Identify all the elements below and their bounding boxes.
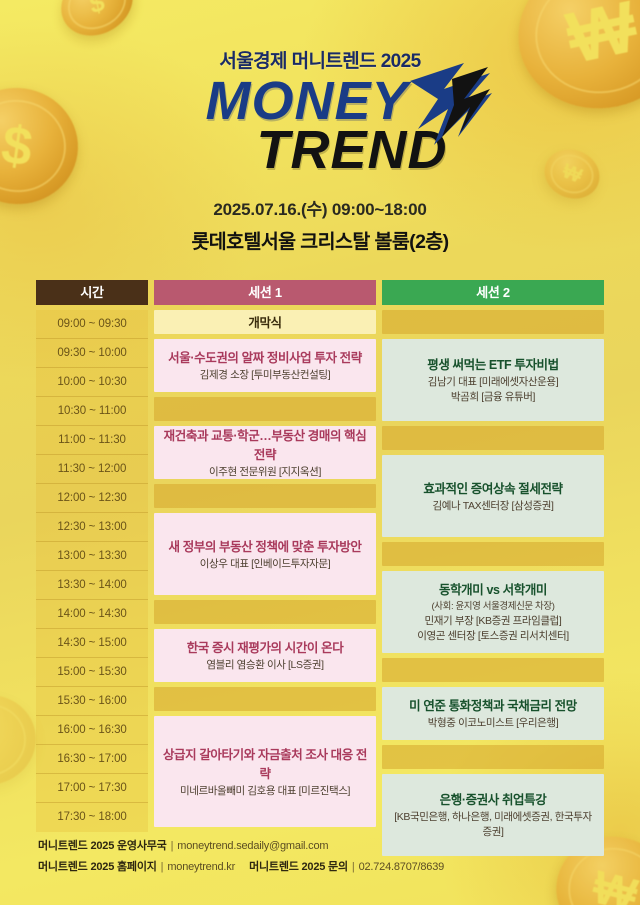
- session-speaker: 김예나 TAX센터장 [삼성증권]: [432, 499, 553, 514]
- column-header-time: 시간: [36, 280, 148, 305]
- coin-glyph: ₩: [588, 863, 640, 905]
- session-title: 은행·증권사 취업특강: [440, 789, 547, 808]
- schedule-gap: [154, 484, 376, 508]
- time-slot: 09:00 ~ 09:30: [36, 310, 148, 339]
- time-column: 09:00 ~ 09:3009:30 ~ 10:0010:00 ~ 10:301…: [36, 310, 148, 856]
- poster-root: $ $ ₩ ₩ ₩ $ 서울경제 머니트렌드 2025 MONEY TREND …: [0, 0, 640, 905]
- session-title: 서울·수도권의 알짜 정비사업 투자 전략: [168, 347, 362, 366]
- time-slot: 17:30 ~ 18:00: [36, 803, 148, 832]
- schedule-gap: [382, 310, 604, 334]
- time-slot: 10:00 ~ 10:30: [36, 368, 148, 397]
- session-note: (사회: 윤지영 서울경제신문 차장): [432, 600, 555, 613]
- session-speaker: 이영곤 센터장 [토스증권 리서치센터]: [417, 629, 569, 644]
- session-title: 상급지 갈아타기와 자금출처 조사 대응 전략: [162, 744, 368, 782]
- footer-separator: |: [157, 861, 168, 873]
- swoosh-icon: [404, 59, 500, 163]
- schedule-gap: [154, 397, 376, 421]
- footer-contact-label: 머니트렌드 2025 문의: [249, 861, 348, 873]
- schedule-gap: [154, 600, 376, 624]
- footer-homepage-value[interactable]: moneytrend.kr: [167, 861, 235, 873]
- session2-column: 평생 써먹는 ETF 투자비법김남기 대표 [미래에셋자산운용]박곰희 [금융 …: [382, 310, 604, 856]
- time-slot: 11:00 ~ 11:30: [36, 426, 148, 455]
- session-block[interactable]: 동학개미 vs 서학개미(사회: 윤지영 서울경제신문 차장)민재기 부장 [K…: [382, 571, 604, 653]
- event-date: 2025.07.16.(수) 09:00~18:00: [0, 195, 640, 220]
- coin-glyph: $: [0, 719, 2, 760]
- session-speaker: 염블리 염승환 이사 [LS증권]: [206, 658, 323, 673]
- footer-phone-value[interactable]: 02.724.8707/8639: [359, 861, 445, 873]
- session-speaker: 박곰희 [금융 유튜버]: [451, 390, 535, 405]
- schedule-gap: [382, 542, 604, 566]
- session-block[interactable]: 효과적인 증여상속 절세전략김예나 TAX센터장 [삼성증권]: [382, 455, 604, 537]
- time-slot: 16:00 ~ 16:30: [36, 716, 148, 745]
- session-speaker: 박형중 이코노미스트 [우리은행]: [428, 716, 558, 731]
- footer-line-1: 머니트렌드 2025 운영사무국|moneytrend.sedaily@gmai…: [38, 836, 444, 856]
- session-block[interactable]: 서울·수도권의 알짜 정비사업 투자 전략김제경 소장 [투미부동산컨설팅]: [154, 339, 376, 392]
- session-title: 개막식: [248, 312, 281, 331]
- footer-separator: |: [167, 840, 178, 852]
- footer-office-label: 머니트렌드 2025 운영사무국: [38, 840, 167, 852]
- session-speaker: 미네르바올빼미 김호용 대표 [미르진택스]: [180, 784, 350, 799]
- event-kicker: 서울경제 머니트렌드 2025: [0, 46, 640, 73]
- time-slot: 11:30 ~ 12:00: [36, 455, 148, 484]
- time-slot: 16:30 ~ 17:00: [36, 745, 148, 774]
- time-slot: 13:00 ~ 13:30: [36, 542, 148, 571]
- session-speaker: 김남기 대표 [미래에셋자산운용]: [428, 375, 558, 390]
- session-block[interactable]: 재건축과 교통·학군…부동산 경매의 핵심 전략이주현 전문위원 [지지옥션]: [154, 426, 376, 479]
- time-slot: 17:00 ~ 17:30: [36, 774, 148, 803]
- time-slot: 14:30 ~ 15:00: [36, 629, 148, 658]
- session-block[interactable]: 미 연준 통화정책과 국채금리 전망박형중 이코노미스트 [우리은행]: [382, 687, 604, 740]
- session-block[interactable]: 새 정부의 부동산 정책에 맞춘 투자방안이상우 대표 [인베이드투자자문]: [154, 513, 376, 595]
- time-slot: 15:00 ~ 15:30: [36, 658, 148, 687]
- footer-line-2: 머니트렌드 2025 홈페이지|moneytrend.kr머니트렌드 2025 …: [38, 857, 444, 877]
- column-header-session1: 세션 1: [154, 280, 376, 305]
- footer-homepage-label: 머니트렌드 2025 홈페이지: [38, 861, 157, 873]
- time-slot: 12:00 ~ 12:30: [36, 484, 148, 513]
- session-title: 효과적인 증여상속 절세전략: [423, 478, 562, 497]
- session-title: 평생 써먹는 ETF 투자비법: [427, 354, 559, 373]
- session-block[interactable]: 상급지 갈아타기와 자금출처 조사 대응 전략미네르바올빼미 김호용 대표 [미…: [154, 716, 376, 827]
- poster-header: 서울경제 머니트렌드 2025 MONEY TREND 2025.07.16.(…: [0, 0, 640, 254]
- time-slot: 09:30 ~ 10:00: [36, 339, 148, 368]
- time-slot: 10:30 ~ 11:00: [36, 397, 148, 426]
- time-slot: 14:00 ~ 14:30: [36, 600, 148, 629]
- session-block[interactable]: 평생 써먹는 ETF 투자비법김남기 대표 [미래에셋자산운용]박곰희 [금융 …: [382, 339, 604, 421]
- footer-separator: |: [348, 861, 359, 873]
- schedule-gap: [382, 658, 604, 682]
- schedule-table: 시간 세션 1 세션 2 09:00 ~ 09:3009:30 ~ 10:001…: [36, 280, 604, 856]
- session-block[interactable]: 한국 증시 재평가의 시간이 온다염블리 염승환 이사 [LS증권]: [154, 629, 376, 682]
- time-slot: 13:30 ~ 14:00: [36, 571, 148, 600]
- session-speaker: 이주현 전문위원 [지지옥션]: [209, 465, 321, 480]
- session-title: 한국 증시 재평가의 시간이 온다: [187, 637, 344, 656]
- session-speaker: 김제경 소장 [투미부동산컨설팅]: [200, 368, 330, 383]
- footer-email-value[interactable]: moneytrend.sedaily@gmail.com: [177, 840, 328, 852]
- session1-column: 개막식서울·수도권의 알짜 정비사업 투자 전략김제경 소장 [투미부동산컨설팅…: [154, 310, 376, 856]
- schedule-gap: [382, 745, 604, 769]
- time-slot: 15:30 ~ 16:00: [36, 687, 148, 716]
- session-title: 동학개미 vs 서학개미: [439, 579, 547, 598]
- column-header-session2: 세션 2: [382, 280, 604, 305]
- schedule-gap: [154, 687, 376, 711]
- money-trend-logo: MONEY TREND: [193, 75, 448, 177]
- time-slot: 12:30 ~ 13:00: [36, 513, 148, 542]
- session-block[interactable]: 개막식: [154, 310, 376, 334]
- session-speaker: 민재기 부장 [KB증권 프라임클럽]: [425, 614, 562, 629]
- event-venue: 롯데호텔서울 크리스탈 볼룸(2층): [0, 225, 640, 254]
- schedule-gap: [382, 426, 604, 450]
- session-title: 재건축과 교통·학군…부동산 경매의 핵심 전략: [162, 425, 368, 463]
- poster-footer: 머니트렌드 2025 운영사무국|moneytrend.sedaily@gmai…: [38, 836, 444, 877]
- session-title: 새 정부의 부동산 정책에 맞춘 투자방안: [169, 536, 362, 555]
- session-speaker: 이상우 대표 [인베이드투자자문]: [200, 557, 330, 572]
- session-title: 미 연준 통화정책과 국채금리 전망: [409, 695, 577, 714]
